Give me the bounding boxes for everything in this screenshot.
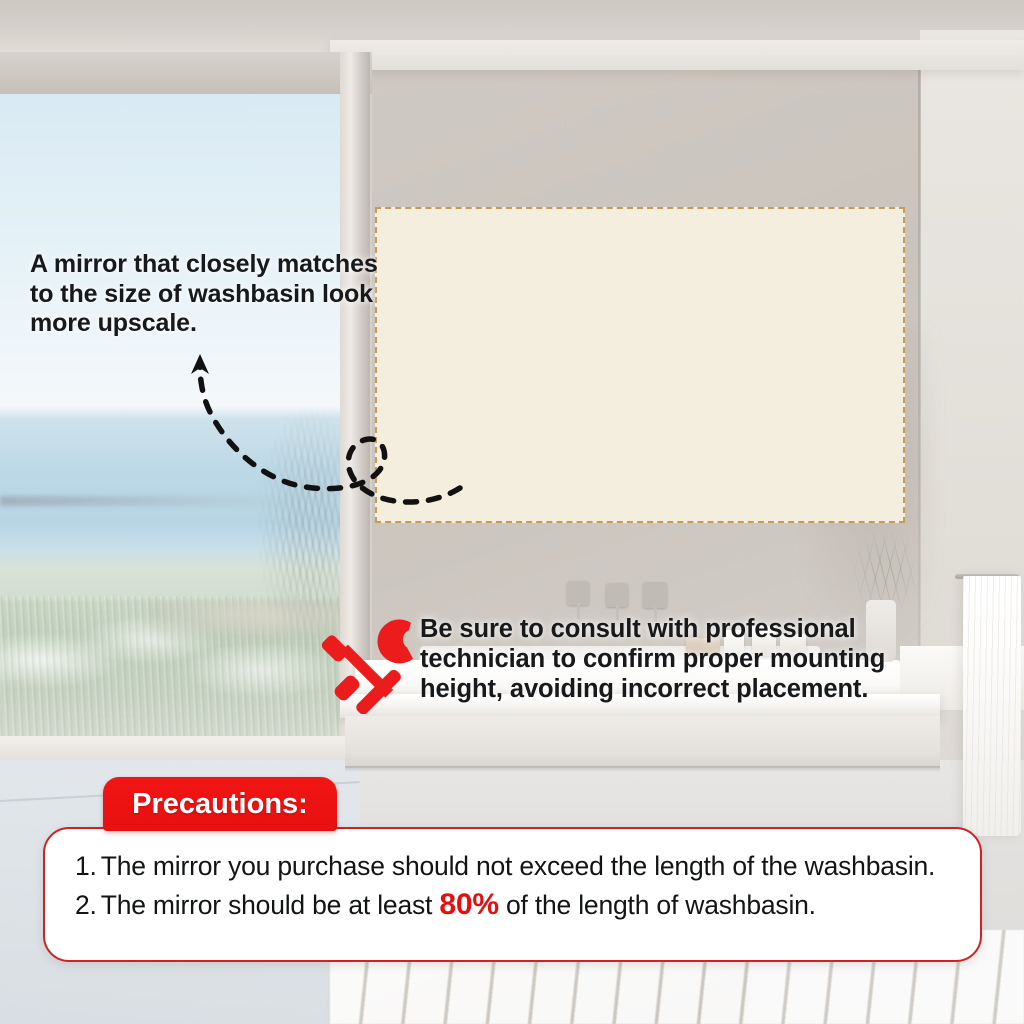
precaution-item-2: 2.The mirror should be at least 80% of t… (75, 885, 954, 926)
wrench-screwdriver-icon (320, 614, 432, 714)
precautions-badge: Precautions: (103, 777, 337, 831)
precaution-text-tail: of the length of washbasin. (499, 890, 816, 920)
counter-shadow (345, 766, 940, 772)
precaution-text: The mirror should be at least (101, 890, 440, 920)
faucet-control-left (567, 581, 589, 605)
callout-installation-tip: Be sure to consult with professional tec… (420, 614, 890, 704)
precaution-number: 2. (75, 890, 97, 920)
towel-texture (963, 576, 1021, 836)
plant-stems (846, 512, 922, 612)
ceiling-soffit (330, 40, 1024, 70)
infographic-canvas: A mirror that closely matches to the siz… (0, 0, 1024, 1024)
faucet-control-center (606, 583, 628, 607)
precautions-badge-label: Precautions: (103, 777, 337, 831)
precautions-list: 1.The mirror you purchase should not exc… (45, 829, 980, 960)
precautions-box: 1.The mirror you purchase should not exc… (43, 827, 982, 962)
callout-line: more upscale. (30, 309, 390, 339)
window-head-frame (0, 52, 372, 94)
faucet-spout (643, 582, 667, 608)
callout-line: technician to confirm proper mounting (420, 644, 890, 674)
precaution-highlight: 80% (439, 888, 498, 921)
curved-dashed-arrow (160, 340, 490, 520)
precaution-number: 1. (75, 851, 97, 881)
vanity-cabinet (345, 716, 940, 768)
precaution-text: The mirror you purchase should not excee… (101, 851, 936, 881)
callout-line: to the size of washbasin look (30, 280, 390, 310)
precaution-item-1: 1.The mirror you purchase should not exc… (75, 849, 954, 885)
callout-line: height, avoiding incorrect placement. (420, 674, 890, 704)
callout-line: A mirror that closely matches (30, 250, 390, 280)
callout-line: Be sure to consult with professional (420, 614, 890, 644)
callout-mirror-size-tip: A mirror that closely matches to the siz… (30, 250, 390, 339)
